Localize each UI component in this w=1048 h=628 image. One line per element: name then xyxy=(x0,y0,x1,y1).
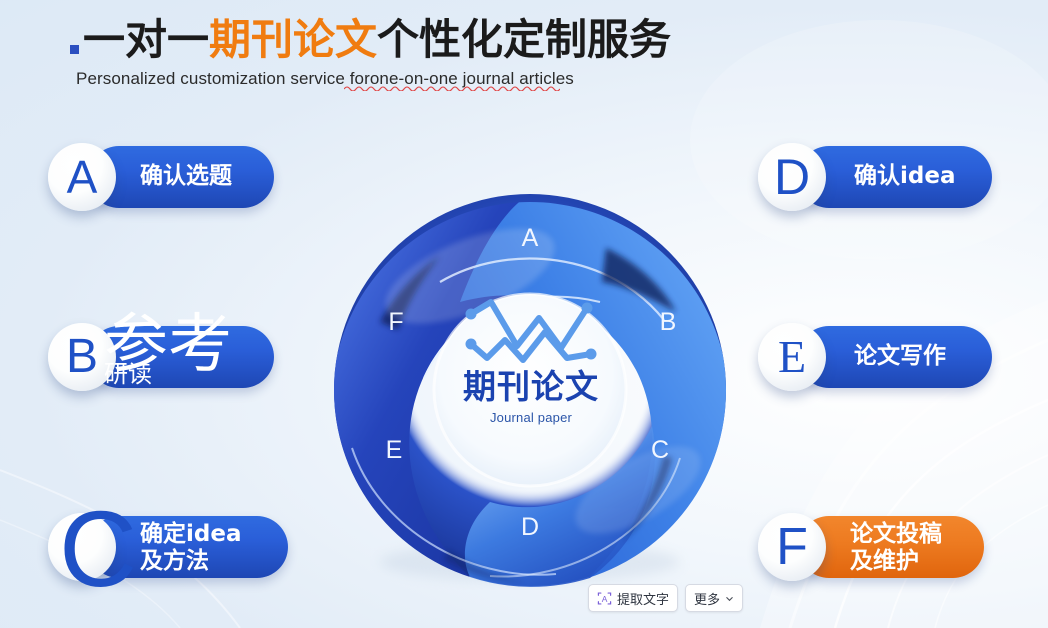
slide-canvas: 一对一期刊论文个性化定制服务 Personalized customizatio… xyxy=(0,0,1048,628)
image-tools-toolbar: A 提取文字 更多 xyxy=(588,584,743,612)
extract-text-label: 提取文字 xyxy=(617,589,669,608)
title-part-1: 一对一 xyxy=(83,15,209,64)
svg-text:A: A xyxy=(602,593,608,603)
ring-letter-c: C xyxy=(651,436,669,464)
ocr-bracket-a-icon: A xyxy=(597,591,612,606)
extract-text-button[interactable]: A 提取文字 xyxy=(588,584,678,612)
square-bullet-icon xyxy=(70,45,79,54)
step-badge-a xyxy=(48,143,116,211)
step-label-c-line2: 及方法 xyxy=(140,549,209,574)
line-chart-icon xyxy=(461,292,601,368)
step-button-d[interactable]: D 确认idea xyxy=(758,146,992,208)
ring-letter-a: A xyxy=(522,224,539,252)
step-label-d: 确认idea xyxy=(854,164,955,189)
step-label-f-line1: 论文投稿 xyxy=(850,522,942,547)
center-logo: 期刊论文 Journal paper xyxy=(452,292,610,460)
step-button-e[interactable]: E 论文写作 xyxy=(758,326,992,388)
title-part-3: 个性化定制服务 xyxy=(377,15,671,64)
step-badge-f xyxy=(758,513,826,581)
step-button-f[interactable]: F 论文投稿 及维护 xyxy=(758,516,984,578)
logo-title-en: Journal paper xyxy=(490,410,572,425)
step-label-b-line2: 研读 xyxy=(104,362,152,388)
ring-letter-b: B xyxy=(660,308,677,336)
step-button-a[interactable]: A 确认选题 xyxy=(48,146,274,208)
more-button[interactable]: 更多 xyxy=(685,584,743,612)
more-label: 更多 xyxy=(694,589,720,608)
step-label-a: 确认选题 xyxy=(140,164,232,189)
chevron-down-icon xyxy=(725,594,734,603)
logo-title-cn: 期刊论文 xyxy=(463,370,599,403)
step-badge-e xyxy=(758,323,826,391)
step-button-b[interactable]: B 参考 研读 xyxy=(48,326,274,388)
page-header: 一对一期刊论文个性化定制服务 Personalized customizatio… xyxy=(70,14,770,89)
step-badge-c xyxy=(48,513,116,581)
ring-letter-d: D xyxy=(521,513,539,541)
step-label-e: 论文写作 xyxy=(854,344,946,369)
spellcheck-squiggle xyxy=(344,85,560,91)
page-title: 一对一期刊论文个性化定制服务 xyxy=(70,14,770,66)
title-part-highlight: 期刊论文 xyxy=(209,15,377,64)
step-label-f-line2: 及维护 xyxy=(850,549,919,574)
step-button-c[interactable]: C 确定idea 及方法 xyxy=(48,516,288,578)
step-badge-d xyxy=(758,143,826,211)
step-label-c-line1: 确定idea xyxy=(140,522,241,547)
ring-letter-f: F xyxy=(388,308,403,336)
ring-letter-e: E xyxy=(386,436,403,464)
